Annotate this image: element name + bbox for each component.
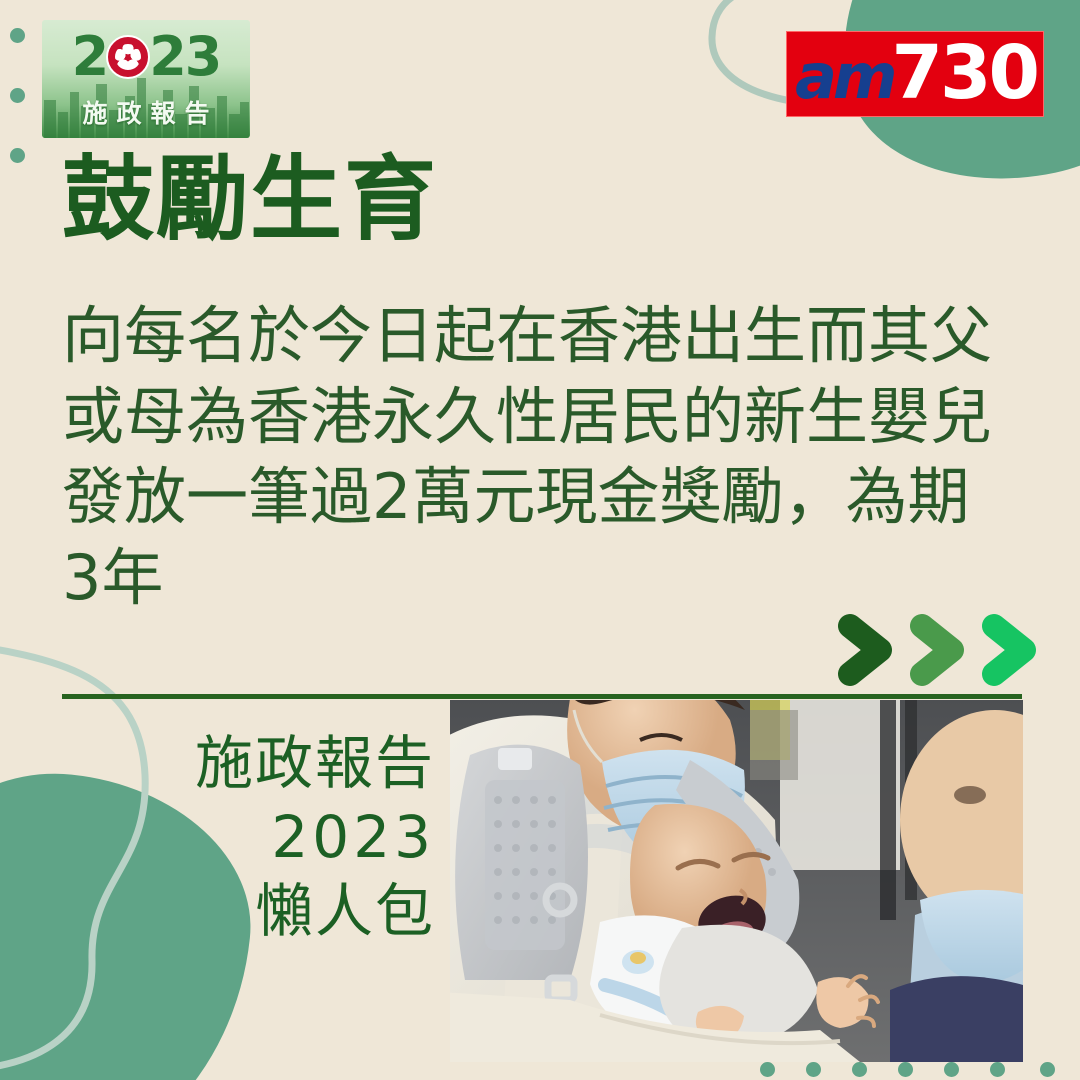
am730-logo: am 730 <box>786 31 1044 117</box>
year-digit-2b: 2 <box>149 30 185 84</box>
policy-address-2023-logo: 2 2 3 施政報告 <box>42 20 250 138</box>
chevron-right-icon <box>904 610 972 690</box>
dot-decoration <box>10 88 25 103</box>
caption-line-subtitle: 懶人包 <box>60 874 435 948</box>
policy-address-year: 2 2 3 <box>42 26 250 88</box>
news-photo <box>450 700 1023 1062</box>
year-digit-2: 2 <box>72 30 108 84</box>
policy-address-subtitle: 施政報告 <box>42 94 250 130</box>
dot-decoration <box>898 1062 913 1077</box>
body-text: 向每名於今日起在香港出生而其父或母為香港永久性居民的新生嬰兒發放一筆過2萬元現金… <box>62 296 992 618</box>
page-title: 鼓勵生育 <box>62 152 438 249</box>
dot-decoration <box>852 1062 867 1077</box>
dot-decoration <box>10 28 25 43</box>
am730-logo-number: 730 <box>892 36 1037 110</box>
dot-decoration <box>806 1062 821 1077</box>
dot-decoration <box>944 1062 959 1077</box>
year-digit-3: 3 <box>185 30 221 84</box>
caption-line-title: 施政報告 <box>60 726 435 800</box>
am730-logo-prefix: am <box>795 46 893 108</box>
chevron-arrows-group <box>832 610 1044 690</box>
hk-bauhinia-emblem-icon <box>106 35 150 79</box>
infographic-card: 2 2 3 施政報告 am 730 鼓勵生育 向每名於今日起在香港出生而其父或母… <box>0 0 1080 1080</box>
series-caption: 施政報告 2023 懶人包 <box>60 726 435 949</box>
dot-decoration <box>990 1062 1005 1077</box>
dot-decoration <box>760 1062 775 1077</box>
dot-decoration <box>1040 1062 1055 1077</box>
dot-decoration <box>10 148 25 163</box>
photo-illustration <box>450 700 1023 1062</box>
chevron-right-icon <box>976 610 1044 690</box>
divider-line <box>62 694 1022 699</box>
caption-line-year: 2023 <box>60 800 435 874</box>
chevron-right-icon <box>832 610 900 690</box>
